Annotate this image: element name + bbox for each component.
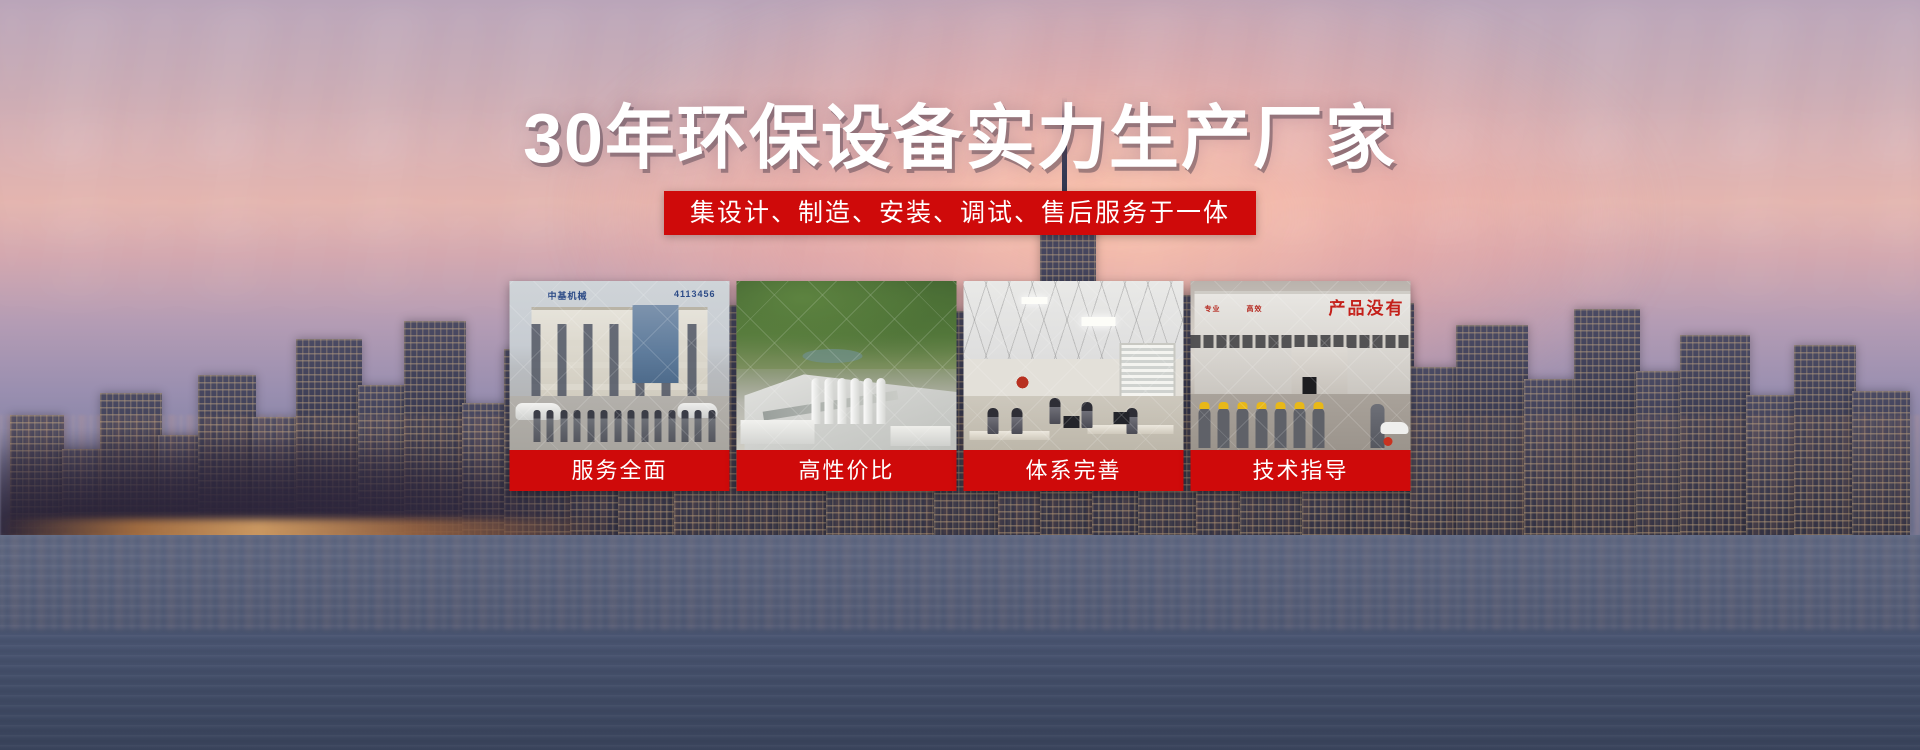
- factory-slogan-text: 专业: [1205, 305, 1221, 314]
- feature-card[interactable]: 中基机械 4113456 服务全面: [510, 281, 730, 491]
- feature-card-label: 高性价比: [737, 450, 957, 491]
- phone-number-text: 4113456: [674, 289, 716, 299]
- feature-card-label: 体系完善: [964, 450, 1184, 491]
- feature-card-label: 服务全面: [510, 450, 730, 491]
- hero-banner: 30年环保设备实力生产厂家 集设计、制造、安装、调试、售后服务于一体 中基机械 …: [0, 0, 1920, 750]
- office-interior-workers-photo: [964, 281, 1184, 450]
- feature-card[interactable]: 高性价比: [737, 281, 957, 491]
- aerial-factory-plant-photo: [737, 281, 957, 450]
- company-logo-text: 中基机械: [548, 289, 588, 302]
- feature-card-label: 技术指导: [1191, 450, 1411, 491]
- factory-workshop-workers-photo: 产品没有 专业 高效: [1191, 281, 1411, 450]
- subtitle-banner: 集设计、制造、安装、调试、售后服务于一体: [664, 191, 1256, 235]
- office-building-and-staff-photo: 中基机械 4113456: [510, 281, 730, 450]
- page-title: 30年环保设备实力生产厂家: [0, 103, 1920, 173]
- feature-card[interactable]: 体系完善: [964, 281, 1184, 491]
- feature-card[interactable]: 产品没有 专业 高效 技术指导: [1191, 281, 1411, 491]
- feature-card-list: 中基机械 4113456 服务全面: [510, 281, 1411, 491]
- factory-banner-text: 产品没有: [1329, 294, 1405, 319]
- factory-slogan-text-2: 高效: [1247, 305, 1263, 314]
